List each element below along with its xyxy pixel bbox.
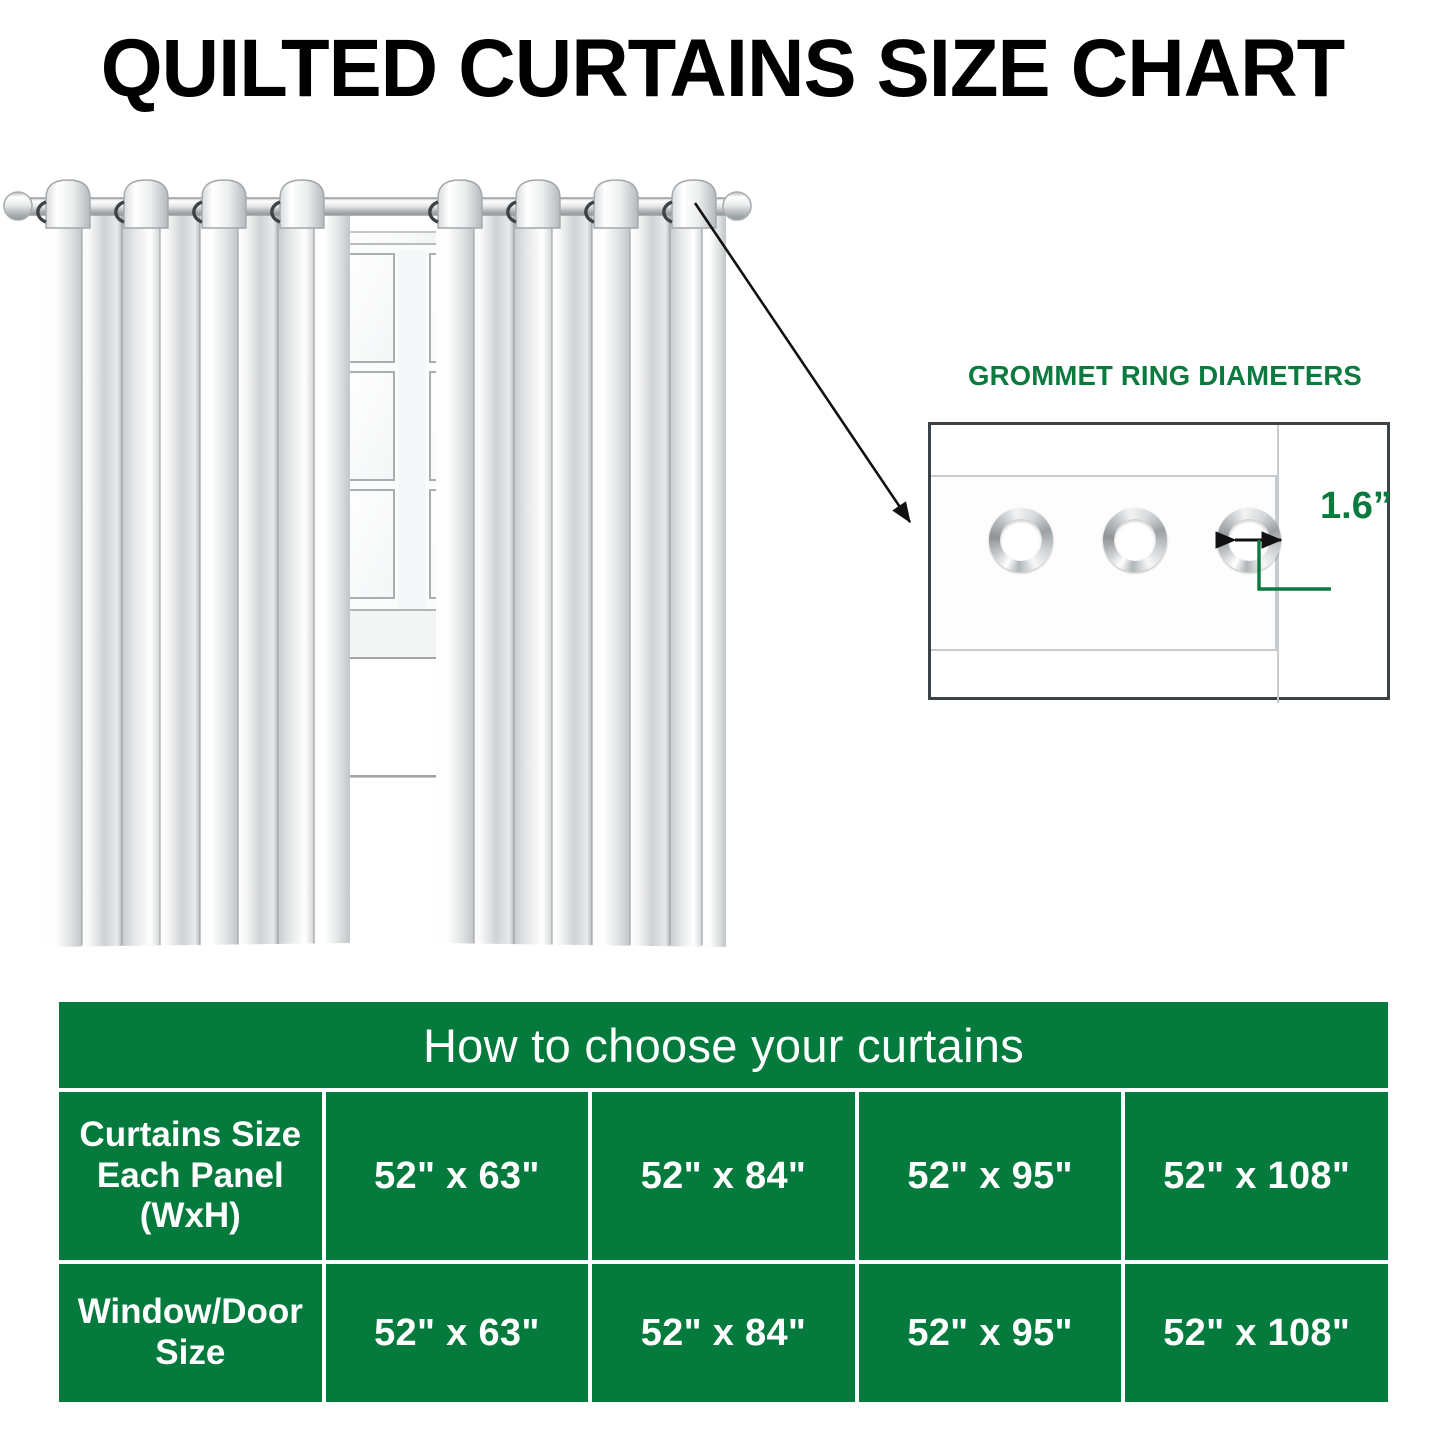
table-cell: 52" x 84" <box>592 1264 855 1402</box>
table-row: Window/Door Size 52" x 63" 52" x 84" 52"… <box>59 1264 1388 1402</box>
grommet-fabric-band <box>931 475 1277 651</box>
row-label-curtains-size: Curtains Size Each Panel (WxH) <box>59 1092 322 1260</box>
grommet-detail-box <box>928 422 1390 700</box>
page-title: QUILTED CURTAINS SIZE CHART <box>22 28 1424 110</box>
grommet-ring-icon-2 <box>1103 508 1167 572</box>
grommet-dimension-label: 1.6” <box>1320 485 1392 528</box>
table-cell: 52" x 63" <box>326 1264 589 1402</box>
table-cell: 52" x 95" <box>859 1264 1122 1402</box>
grommet-ring-icon-3 <box>1217 508 1281 572</box>
row-label-line: Curtains Size <box>59 1115 322 1156</box>
grommet-heading: GROMMET RING DIAMETERS <box>930 360 1400 392</box>
grommet-panel-divider <box>1277 425 1279 703</box>
table-cell: 52" x 108" <box>1125 1092 1388 1260</box>
row-label-window-door-size: Window/Door Size <box>59 1264 322 1402</box>
callout-arrow-icon <box>670 190 940 540</box>
size-chart-page: QUILTED CURTAINS SIZE CHART <box>0 0 1445 1445</box>
rod-finial-left <box>4 192 32 220</box>
left-curtain-panel <box>44 198 350 950</box>
table-row: Curtains Size Each Panel (WxH) 52" x 63"… <box>59 1092 1388 1260</box>
table-cell: 52" x 108" <box>1125 1264 1388 1402</box>
row-label-line: Size <box>59 1333 322 1374</box>
grommet-detail-section: GROMMET RING DIAMETERS <box>920 360 1400 710</box>
table-title: How to choose your curtains <box>59 1002 1388 1088</box>
row-label-line: Window/Door <box>59 1292 322 1333</box>
table-cell: 52" x 95" <box>859 1092 1122 1260</box>
table-cell: 52" x 84" <box>592 1092 855 1260</box>
row-label-line: (WxH) <box>59 1196 322 1237</box>
table-header-row: How to choose your curtains <box>59 1002 1388 1088</box>
table-cell: 52" x 63" <box>326 1092 589 1260</box>
size-table: How to choose your curtains Curtains Siz… <box>55 998 1392 1406</box>
row-label-line: Each Panel <box>59 1156 322 1197</box>
grommet-ring-icon-1 <box>989 508 1053 572</box>
